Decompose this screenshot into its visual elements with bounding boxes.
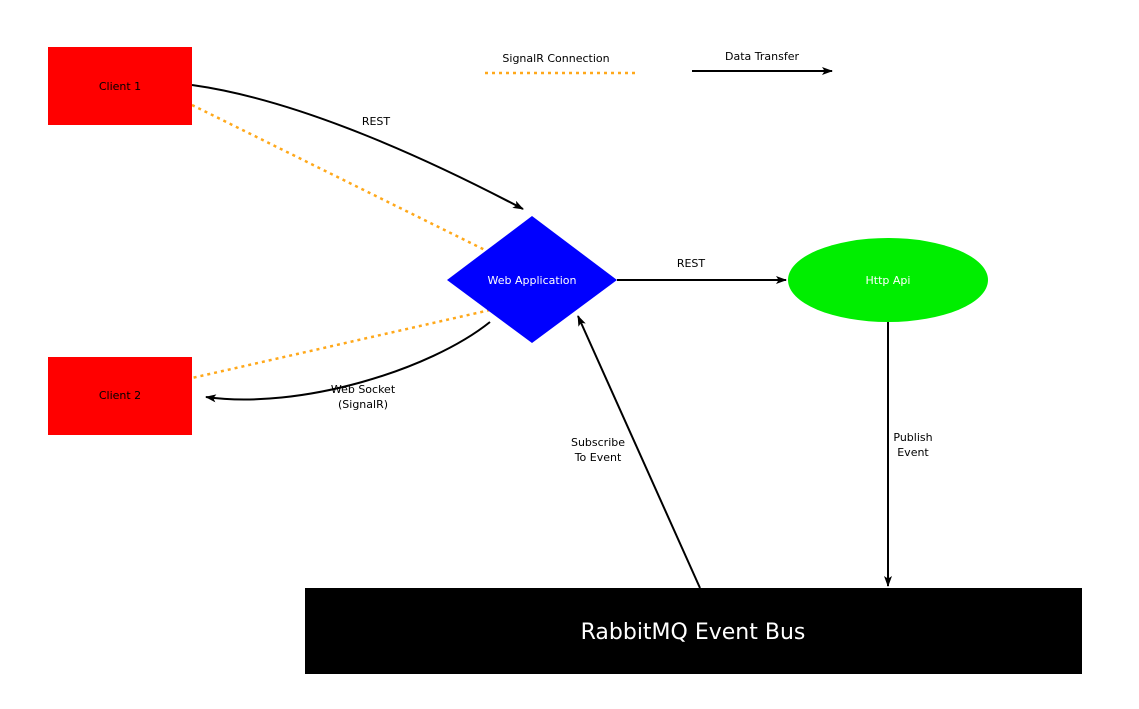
- node-client2[interactable]: Client 2: [48, 357, 192, 435]
- edge-label-httpapi-eventbus-line1: Publish: [893, 431, 932, 444]
- edge-client1-webapp: REST: [192, 85, 523, 209]
- edge-line-client1-webapp: [192, 85, 523, 209]
- node-eventbus[interactable]: RabbitMQ Event Bus: [305, 588, 1082, 674]
- legend-label-signalr: SignalR Connection: [502, 52, 609, 65]
- edge-httpapi-eventbus: Publish Event: [888, 320, 933, 586]
- node-client1[interactable]: Client 1: [48, 47, 192, 125]
- node-label-eventbus: RabbitMQ Event Bus: [581, 620, 806, 645]
- node-label-client1: Client 1: [99, 80, 141, 93]
- node-label-webapp: Web Application: [488, 274, 577, 287]
- edge-label-httpapi-eventbus-line2: Event: [897, 446, 929, 459]
- legend-label-data-transfer: Data Transfer: [725, 50, 799, 63]
- edge-label-webapp-client2-line1: Web Socket: [331, 383, 396, 396]
- edge-label-eventbus-webapp-line2: To Event: [574, 451, 622, 464]
- legend: SignalR Connection Data Transfer: [485, 50, 832, 73]
- architecture-diagram: SignalR Connection Data Transfer REST We…: [0, 0, 1139, 709]
- node-label-client2: Client 2: [99, 389, 141, 402]
- edge-eventbus-webapp: Subscribe To Event: [571, 316, 700, 588]
- edge-label-eventbus-webapp-line1: Subscribe: [571, 436, 625, 449]
- edge-label-webapp-httpapi: REST: [677, 257, 706, 270]
- edge-line-client1-webapp-signalr: [192, 105, 489, 252]
- edge-label-webapp-client2-line2: (SignalR): [338, 398, 388, 411]
- edge-webapp-httpapi: REST: [617, 257, 786, 280]
- node-webapp[interactable]: Web Application: [447, 216, 617, 343]
- edge-label-client1-webapp: REST: [362, 115, 391, 128]
- node-label-httpapi: Http Api: [866, 274, 911, 287]
- legend-item-data-transfer: Data Transfer: [692, 50, 832, 71]
- edge-line-webapp-client2-signalr: [192, 310, 490, 378]
- legend-item-signalr: SignalR Connection: [485, 52, 636, 73]
- node-httpapi[interactable]: Http Api: [788, 238, 988, 322]
- edge-webapp-client2: Web Socket (SignalR): [206, 322, 490, 411]
- diagram-canvas: SignalR Connection Data Transfer REST We…: [0, 0, 1139, 709]
